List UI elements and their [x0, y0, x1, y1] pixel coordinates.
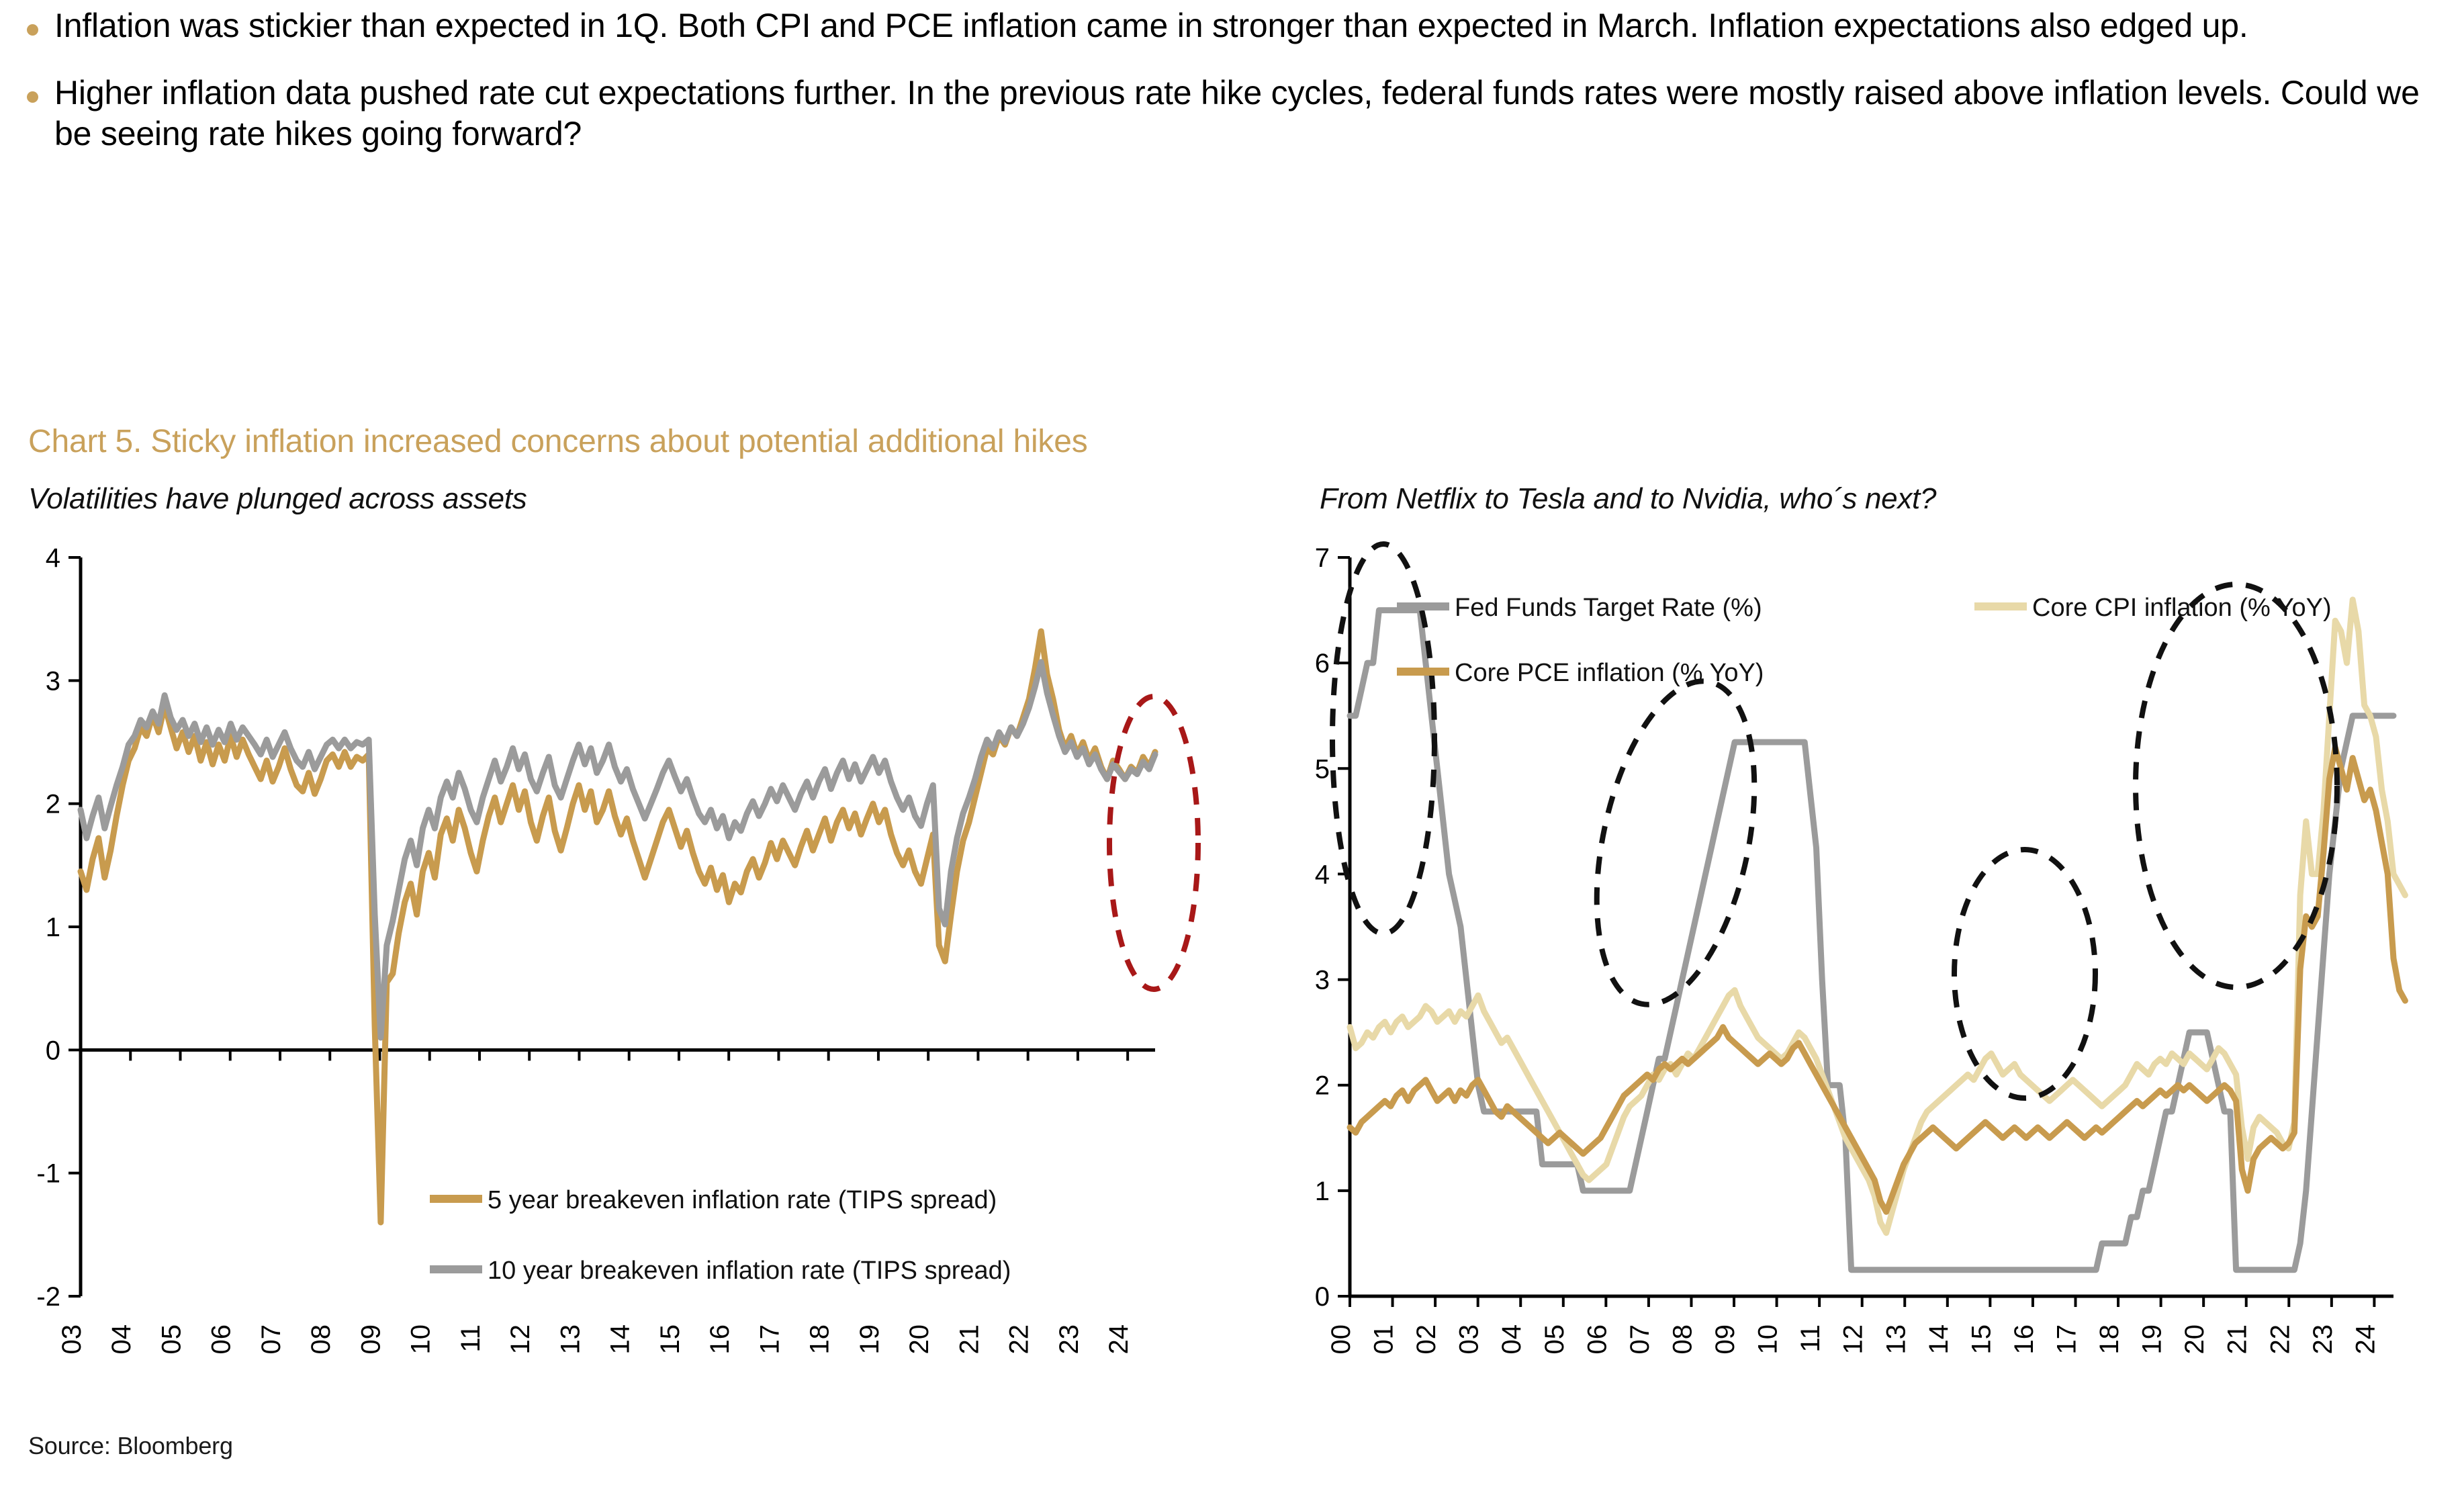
right-chart-svg: 0123456700010203040506070809101112131415… [1276, 537, 2464, 1424]
x-axis-tick-label: 03 [57, 1324, 87, 1355]
x-axis-tick-label: 21 [2223, 1324, 2252, 1355]
x-axis-tick-label: 21 [954, 1324, 984, 1355]
x-axis-tick-label: 13 [555, 1324, 585, 1355]
x-axis-tick-label: 10 [406, 1324, 436, 1355]
left-chart-subtitle: Volatilities have plunged across assets [28, 482, 527, 516]
x-axis-tick-label: 16 [705, 1324, 735, 1355]
annotation-ellipse-0 [1109, 696, 1198, 989]
x-axis-tick-label: 09 [1710, 1324, 1740, 1355]
x-axis-tick-label: 05 [156, 1324, 186, 1355]
x-axis-tick-label: 14 [606, 1324, 635, 1355]
x-axis-tick-label: 01 [1369, 1324, 1399, 1355]
x-axis-tick-label: 07 [1625, 1324, 1655, 1355]
x-axis-tick-label: 13 [1881, 1324, 1911, 1355]
x-axis-tick-label: 07 [257, 1324, 286, 1355]
x-axis-tick-label: 20 [2180, 1324, 2209, 1355]
y-axis-tick-label: 1 [46, 913, 60, 942]
y-axis-tick-label: 2 [46, 790, 60, 819]
x-axis-tick-label: 18 [805, 1324, 835, 1355]
series-line-0 [81, 631, 1155, 1222]
x-axis-tick-label: 11 [1796, 1324, 1825, 1353]
y-axis-tick-label: 0 [1315, 1282, 1330, 1312]
annotation-ellipse-1 [1570, 667, 1780, 1019]
y-axis-tick-label: 1 [1315, 1177, 1330, 1206]
y-axis-tick-label: 4 [1315, 860, 1330, 889]
y-axis-tick-label: 7 [1315, 543, 1330, 573]
annotation-ellipse-2 [1954, 850, 2095, 1098]
x-axis-tick-label: 23 [1054, 1324, 1084, 1355]
x-axis-tick-label: 19 [2138, 1324, 2167, 1355]
y-axis-tick-label: 6 [1315, 649, 1330, 678]
y-axis-tick-label: 5 [1315, 754, 1330, 784]
legend-label-2: Core PCE inflation (% YoY) [1455, 659, 1764, 687]
y-axis-tick-label: -2 [36, 1282, 60, 1312]
bullet-item: Inflation was stickier than expected in … [27, 5, 2438, 47]
x-axis-tick-label: 02 [1412, 1324, 1441, 1355]
x-axis-tick-label: 18 [2095, 1324, 2124, 1355]
x-axis-tick-label: 22 [2265, 1324, 2295, 1355]
x-axis-tick-label: 23 [2308, 1324, 2338, 1355]
x-axis-tick-label: 15 [655, 1324, 685, 1355]
x-axis-tick-label: 06 [207, 1324, 236, 1355]
x-axis-tick-label: 14 [1924, 1324, 1954, 1355]
x-axis-tick-label: 09 [356, 1324, 385, 1355]
x-axis-tick-label: 16 [2009, 1324, 2039, 1355]
y-axis-tick-label: 4 [46, 543, 60, 573]
right-chart-panel: 0123456700010203040506070809101112131415… [1276, 537, 2464, 1424]
y-axis-tick-label: 3 [1315, 966, 1330, 995]
x-axis-tick-label: 08 [306, 1324, 336, 1355]
x-axis-tick-label: 17 [2052, 1324, 2081, 1355]
left-chart-panel: -2-1012340304050607080910111213141516171… [0, 537, 1229, 1424]
x-axis-tick-label: 00 [1326, 1324, 1356, 1355]
bullet-text: Higher inflation data pushed rate cut ex… [54, 73, 2438, 155]
x-axis-tick-label: 15 [1966, 1324, 1996, 1355]
x-axis-tick-label: 08 [1668, 1324, 1697, 1355]
legend-label-1: 10 year breakeven inflation rate (TIPS s… [488, 1257, 1011, 1285]
bullet-text: Inflation was stickier than expected in … [54, 5, 2438, 47]
y-axis-tick-label: -1 [36, 1159, 60, 1189]
bullet-item: Higher inflation data pushed rate cut ex… [27, 73, 2438, 155]
legend-label-1: Core CPI inflation (% YoY) [2032, 594, 2332, 622]
legend-label-0: 5 year breakeven inflation rate (TIPS sp… [488, 1186, 997, 1214]
y-axis-tick-label: 0 [46, 1036, 60, 1065]
y-axis-tick-label: 2 [1315, 1071, 1330, 1101]
x-axis-tick-label: 04 [1497, 1324, 1526, 1355]
source-note: Source: Bloomberg [28, 1432, 233, 1460]
x-axis-tick-label: 05 [1540, 1324, 1569, 1355]
x-axis-tick-label: 03 [1455, 1324, 1484, 1355]
x-axis-tick-label: 24 [1104, 1324, 1134, 1355]
series-line-1 [81, 662, 1155, 1038]
x-axis-tick-label: 06 [1582, 1324, 1612, 1355]
chart-block-title: Chart 5. Sticky inflation increased conc… [28, 423, 1088, 460]
legend-label-0: Fed Funds Target Rate (%) [1455, 594, 1762, 622]
x-axis-tick-label: 22 [1005, 1324, 1034, 1355]
x-axis-tick-label: 12 [1839, 1324, 1868, 1355]
x-axis-tick-label: 11 [456, 1324, 486, 1353]
x-axis-tick-label: 24 [2351, 1324, 2380, 1355]
bullet-list: Inflation was stickier than expected in … [27, 5, 2438, 181]
right-chart-subtitle: From Netflix to Tesla and to Nvidia, who… [1320, 482, 1936, 516]
x-axis-tick-label: 20 [905, 1324, 934, 1355]
x-axis-tick-label: 17 [755, 1324, 784, 1355]
x-axis-tick-label: 12 [506, 1324, 535, 1355]
left-chart-svg: -2-1012340304050607080910111213141516171… [0, 537, 1229, 1424]
x-axis-tick-label: 04 [107, 1324, 136, 1355]
y-axis-tick-label: 3 [46, 666, 60, 696]
bullet-dot-icon [27, 24, 38, 36]
x-axis-tick-label: 19 [855, 1324, 884, 1355]
bullet-dot-icon [27, 91, 38, 103]
series-line-1 [1350, 600, 2405, 1233]
x-axis-tick-label: 10 [1753, 1324, 1783, 1355]
